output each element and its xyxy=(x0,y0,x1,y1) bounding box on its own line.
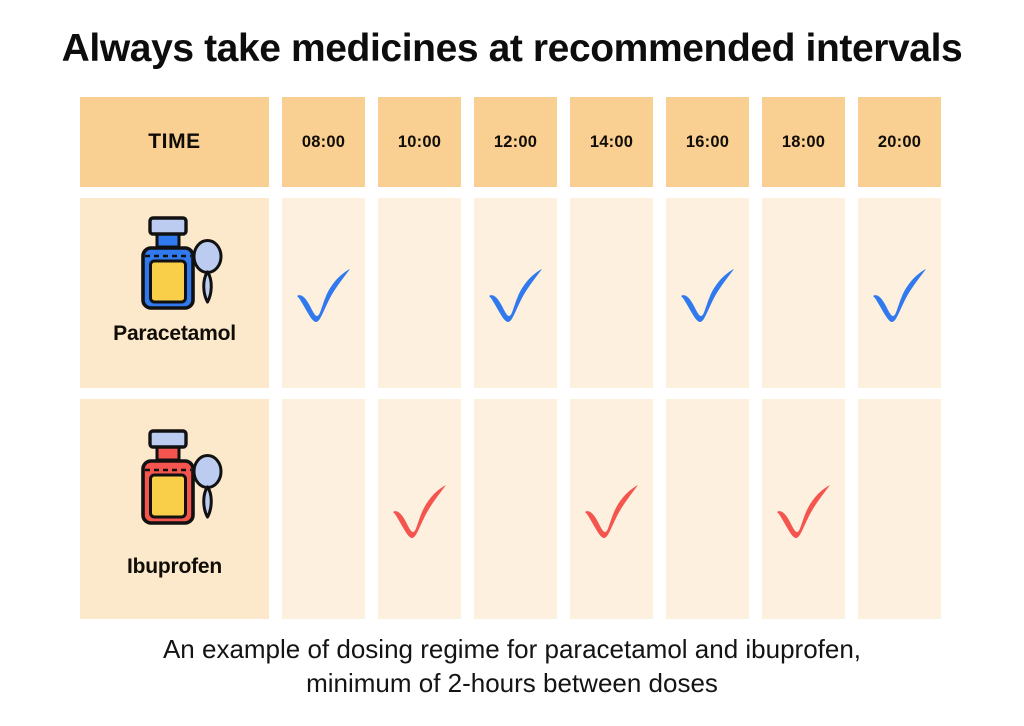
checkmark-blue-icon xyxy=(671,256,745,330)
dose-cell-paracetamol-1600[interactable] xyxy=(666,198,749,388)
time-value: 10:00 xyxy=(398,133,441,152)
time-column-label: TIME xyxy=(148,130,201,154)
caption: An example of dosing regime for paraceta… xyxy=(0,632,1024,701)
dose-cell-ibuprofen-2000[interactable] xyxy=(858,399,941,619)
checkmark-blue-icon xyxy=(479,256,553,330)
medicine-bottle-blue-icon xyxy=(121,212,229,316)
medicine-name-label: Ibuprofen xyxy=(127,555,222,579)
table-header-time-6: 20:00 xyxy=(858,97,941,187)
table-header-time-label: TIME xyxy=(80,97,269,187)
checkmark-blue-icon xyxy=(863,256,937,330)
dose-cell-ibuprofen-0800[interactable] xyxy=(282,399,365,619)
table-header-time-3: 14:00 xyxy=(570,97,653,187)
dose-cell-paracetamol-1800[interactable] xyxy=(762,198,845,388)
dose-cell-ibuprofen-1800[interactable] xyxy=(762,399,845,619)
dose-cell-paracetamol-1400[interactable] xyxy=(570,198,653,388)
time-value: 12:00 xyxy=(494,133,537,152)
dose-cell-paracetamol-0800[interactable] xyxy=(282,198,365,388)
dose-cell-paracetamol-1200[interactable] xyxy=(474,198,557,388)
table-row-label-paracetamol: Paracetamol xyxy=(80,198,269,388)
time-value: 18:00 xyxy=(782,133,825,152)
dose-cell-ibuprofen-1200[interactable] xyxy=(474,399,557,619)
table-header-time-5: 18:00 xyxy=(762,97,845,187)
medicine-bottle-red-icon xyxy=(121,425,229,533)
time-value: 14:00 xyxy=(590,133,633,152)
dose-cell-ibuprofen-1600[interactable] xyxy=(666,399,749,619)
table-header-time-0: 08:00 xyxy=(282,97,365,187)
checkmark-red-icon xyxy=(383,472,457,546)
time-value: 20:00 xyxy=(878,133,921,152)
table-header-time-4: 16:00 xyxy=(666,97,749,187)
time-value: 08:00 xyxy=(302,133,345,152)
medicine-name-label: Paracetamol xyxy=(113,322,236,346)
medicine-schedule-poster: Always take medicines at recommended int… xyxy=(0,0,1024,726)
caption-line-2: minimum of 2-hours between doses xyxy=(0,666,1024,700)
caption-line-1: An example of dosing regime for paraceta… xyxy=(0,632,1024,666)
dose-cell-ibuprofen-1400[interactable] xyxy=(570,399,653,619)
dose-cell-ibuprofen-1000[interactable] xyxy=(378,399,461,619)
page-title: Always take medicines at recommended int… xyxy=(0,27,1024,72)
checkmark-blue-icon xyxy=(287,256,361,330)
checkmark-red-icon xyxy=(767,472,841,546)
dose-cell-paracetamol-1000[interactable] xyxy=(378,198,461,388)
checkmark-red-icon xyxy=(575,472,649,546)
table-header-time-1: 10:00 xyxy=(378,97,461,187)
time-value: 16:00 xyxy=(686,133,729,152)
table-row-label-ibuprofen: Ibuprofen xyxy=(80,399,269,619)
table-header-time-2: 12:00 xyxy=(474,97,557,187)
dose-cell-paracetamol-2000[interactable] xyxy=(858,198,941,388)
dosing-schedule-table: TIME 08:00 10:00 12:00 14:00 16:00 18:00… xyxy=(80,97,946,619)
